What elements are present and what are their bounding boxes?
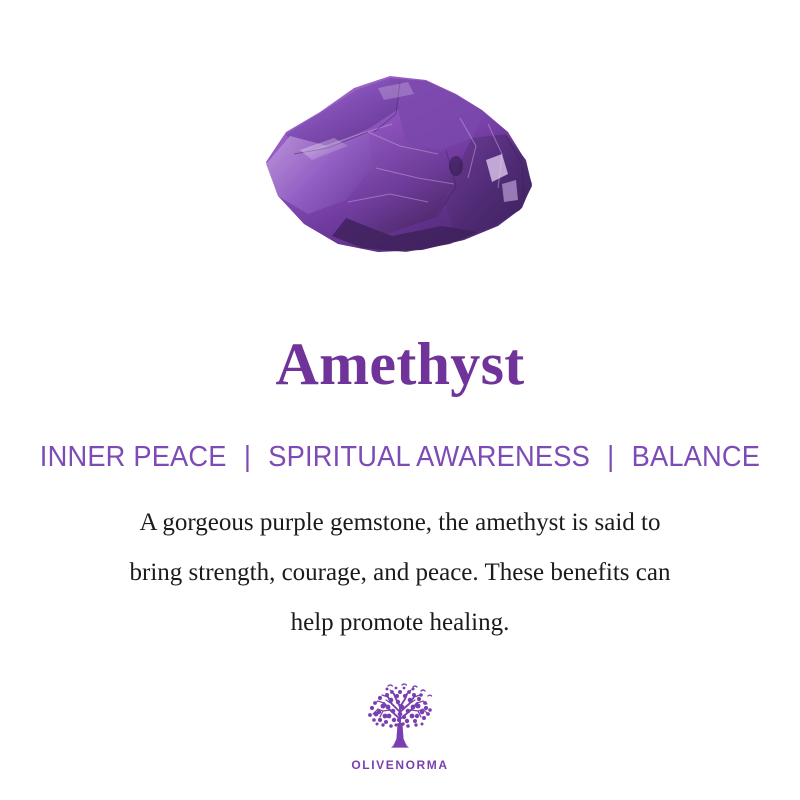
page-title: Amethyst <box>0 331 800 397</box>
keyword-separator-2: | <box>598 441 624 473</box>
keyword-balance: BALANCE <box>632 441 761 473</box>
description-line-3: help promote healing. <box>50 598 750 648</box>
keyword-list: INNER PEACE | SPIRITUAL AWARENESS | BALA… <box>24 441 776 474</box>
raw-amethyst-crystal-icon <box>250 54 550 266</box>
description-line-1: A gorgeous purple gemstone, the amethyst… <box>50 498 750 548</box>
keyword-inner-peace: INNER PEACE <box>40 441 227 473</box>
description-line-2: bring strength, courage, and peace. Thes… <box>50 548 750 598</box>
stone-inclusion <box>449 156 463 176</box>
keyword-spiritual-awareness: SPIRITUAL AWARENESS <box>268 441 590 473</box>
description-text: A gorgeous purple gemstone, the amethyst… <box>50 498 750 648</box>
brand-logo: OLIVENORMA <box>0 683 800 772</box>
brand-name: OLIVENORMA <box>351 758 448 772</box>
amethyst-info-card: Amethyst INNER PEACE | SPIRITUAL AWARENE… <box>0 0 800 800</box>
gemstone-image-container <box>0 0 800 320</box>
keyword-separator-1: | <box>234 441 260 473</box>
tree-of-life-icon <box>358 683 442 755</box>
